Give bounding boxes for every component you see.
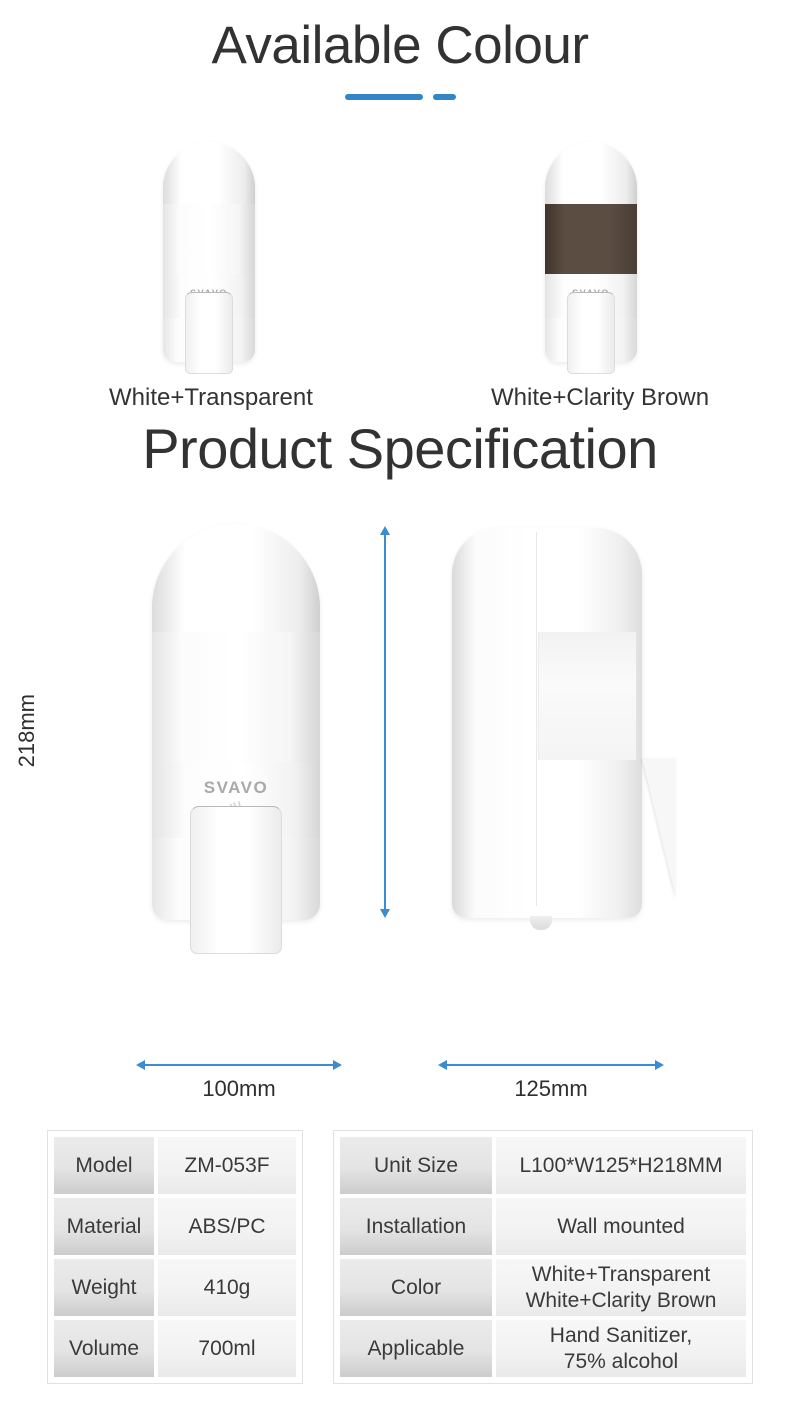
side-seam-line — [536, 532, 537, 906]
arrow-head-left-icon — [136, 1060, 145, 1070]
dimension-line — [144, 1064, 334, 1066]
dispenser-window-transparent — [163, 204, 255, 274]
spec-value: L100*W125*H218MM — [496, 1137, 746, 1194]
spec-label: Unit Size — [340, 1137, 492, 1194]
dispenser-dome — [163, 142, 255, 204]
arrow-head-right-icon — [333, 1060, 342, 1070]
spec-value-line-1: White+Transparent — [526, 1262, 717, 1288]
page-title-available-colour: Available Colour — [0, 18, 800, 74]
dispenser-front-view: SVAVO — [152, 524, 320, 920]
side-view-figure — [452, 528, 642, 918]
arrow-head-right-icon — [655, 1060, 664, 1070]
table-row: Model ZM-053F — [54, 1137, 296, 1194]
accent-bar-short — [433, 94, 456, 100]
dispenser-window-transparent — [152, 632, 320, 762]
colour-caption: White+Clarity Brown — [491, 384, 691, 412]
dispenser-dome — [545, 142, 637, 204]
arrow-head-down-icon — [380, 909, 390, 918]
table-row: Color White+Transparent White+Clarity Br… — [340, 1259, 746, 1316]
spec-value: Wall mounted — [496, 1198, 746, 1255]
colour-caption: White+Transparent — [109, 384, 309, 412]
spec-label: Weight — [54, 1259, 154, 1316]
brand-logo-text: SVAVO — [204, 778, 269, 797]
dispenser-push-lever — [190, 806, 282, 954]
spec-value: ABS/PC — [158, 1198, 296, 1255]
dispenser-image-transparent: SVAVO — [163, 142, 255, 362]
table-row: Weight 410g — [54, 1259, 296, 1316]
side-push-lever — [642, 758, 676, 898]
specification-figure: SVAVO 218mm — [0, 524, 800, 954]
spec-label: Material — [54, 1198, 154, 1255]
colour-option-transparent[interactable]: SVAVO White+Transparent — [109, 142, 309, 412]
table-row: Applicable Hand Sanitizer, 75% alcohol — [340, 1320, 746, 1377]
dimension-side-width: 125mm — [438, 1064, 664, 1066]
spec-value: 410g — [158, 1259, 296, 1316]
front-view-figure: SVAVO — [152, 524, 320, 920]
side-nozzle — [530, 916, 552, 930]
dispenser-side-view — [452, 528, 642, 918]
table-row: Installation Wall mounted — [340, 1198, 746, 1255]
accent-bar-long — [345, 94, 423, 100]
specification-tables: Model ZM-053F Material ABS/PC Weight 410… — [0, 1130, 800, 1384]
spec-table-left: Model ZM-053F Material ABS/PC Weight 410… — [47, 1130, 303, 1384]
colour-options-row: SVAVO White+Transparent SVAVO Whi — [0, 142, 800, 412]
dimension-height — [384, 526, 386, 918]
side-window-panel — [538, 632, 636, 760]
table-row: Volume 700ml — [54, 1320, 296, 1377]
spec-value-line-2: White+Clarity Brown — [526, 1288, 717, 1314]
spec-label: Installation — [340, 1198, 492, 1255]
spec-value: Hand Sanitizer, 75% alcohol — [496, 1320, 746, 1377]
dimension-side-width-label: 125mm — [438, 1076, 664, 1102]
spec-label: Model — [54, 1137, 154, 1194]
dispenser-dome — [152, 524, 320, 632]
table-row: Unit Size L100*W125*H218MM — [340, 1137, 746, 1194]
spec-table-right: Unit Size L100*W125*H218MM Installation … — [333, 1130, 753, 1384]
dispenser-push-lever — [567, 292, 615, 374]
spec-label: Volume — [54, 1320, 154, 1377]
dispenser-window-brown — [545, 204, 637, 274]
dimension-height-label: 218mm — [14, 694, 40, 767]
page-title-product-specification: Product Specification — [0, 420, 800, 479]
dimension-front-width-label: 100mm — [136, 1076, 342, 1102]
colour-option-clarity-brown[interactable]: SVAVO White+Clarity Brown — [491, 142, 691, 412]
spec-value: White+Transparent White+Clarity Brown — [496, 1259, 746, 1316]
dimension-line — [446, 1064, 656, 1066]
spec-label: Color — [340, 1259, 492, 1316]
dimension-line — [384, 534, 386, 910]
dispenser-push-lever — [185, 292, 233, 374]
spec-value: ZM-053F — [158, 1137, 296, 1194]
spec-value-line-1: Hand Sanitizer, — [550, 1323, 692, 1349]
arrow-head-left-icon — [438, 1060, 447, 1070]
dispenser-image-brown: SVAVO — [545, 142, 637, 362]
spec-value: 700ml — [158, 1320, 296, 1377]
accent-divider — [0, 94, 800, 100]
arrow-head-up-icon — [380, 526, 390, 535]
spec-value-line-2: 75% alcohol — [550, 1349, 692, 1375]
spec-label: Applicable — [340, 1320, 492, 1377]
dimension-front-width: 100mm — [136, 1064, 342, 1066]
table-row: Material ABS/PC — [54, 1198, 296, 1255]
